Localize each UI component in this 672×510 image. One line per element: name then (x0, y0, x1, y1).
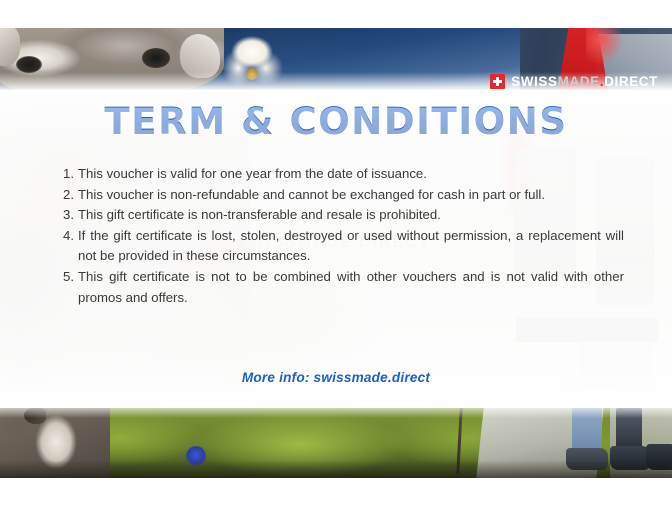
sheep-eye-left (16, 56, 42, 73)
list-item-number: 5. (58, 267, 74, 308)
brand-logo[interactable]: SWISSMADE.DIRECT (490, 74, 658, 89)
page-title: TERM & CONDITIONS (0, 100, 672, 143)
voucher-terms-slide: SWISSMADE.DIRECT SWISSMADE.DIRECT YOUR H… (0, 0, 672, 510)
list-item-text: If the gift certificate is lost, stolen,… (78, 226, 624, 267)
brand-name-part1: SWISS (511, 74, 558, 89)
sheep-eye-right (142, 48, 170, 68)
brand-name-part2: MADE (558, 74, 600, 89)
list-item-number: 2. (58, 185, 74, 206)
brand-logo-text: SWISSMADE.DIRECT (511, 75, 658, 89)
list-item-text: This voucher is valid for one year from … (78, 164, 624, 185)
list-item: 1. This voucher is valid for one year fr… (58, 164, 624, 185)
terms-list: 1. This voucher is valid for one year fr… (58, 164, 624, 308)
content-area: TERM & CONDITIONS 1. This voucher is val… (0, 90, 672, 400)
list-item: 4. If the gift certificate is lost, stol… (58, 226, 624, 267)
brand-name-part3: DIRECT (604, 74, 658, 89)
list-item-number: 4. (58, 226, 74, 267)
more-info-link[interactable]: More info: swissmade.direct (0, 370, 672, 385)
list-item: 5. This gift certificate is not to be co… (58, 267, 624, 308)
list-item-text: This gift certificate is not to be combi… (78, 267, 624, 308)
top-photo-band: SWISSMADE.DIRECT (0, 28, 672, 90)
band-top-highlight (0, 408, 672, 418)
list-item-text: This gift certificate is non-transferabl… (78, 205, 624, 226)
list-item-number: 1. (58, 164, 74, 185)
band-bottom-shadow (0, 460, 672, 478)
list-item-text: This voucher is non-refundable and canno… (78, 185, 624, 206)
list-item-number: 3. (58, 205, 74, 226)
red-glow (586, 28, 622, 64)
list-item: 2. This voucher is non-refundable and ca… (58, 185, 624, 206)
list-item: 3. This gift certificate is non-transfer… (58, 205, 624, 226)
swiss-cross-icon (490, 74, 505, 89)
bottom-photo-band (0, 408, 672, 478)
